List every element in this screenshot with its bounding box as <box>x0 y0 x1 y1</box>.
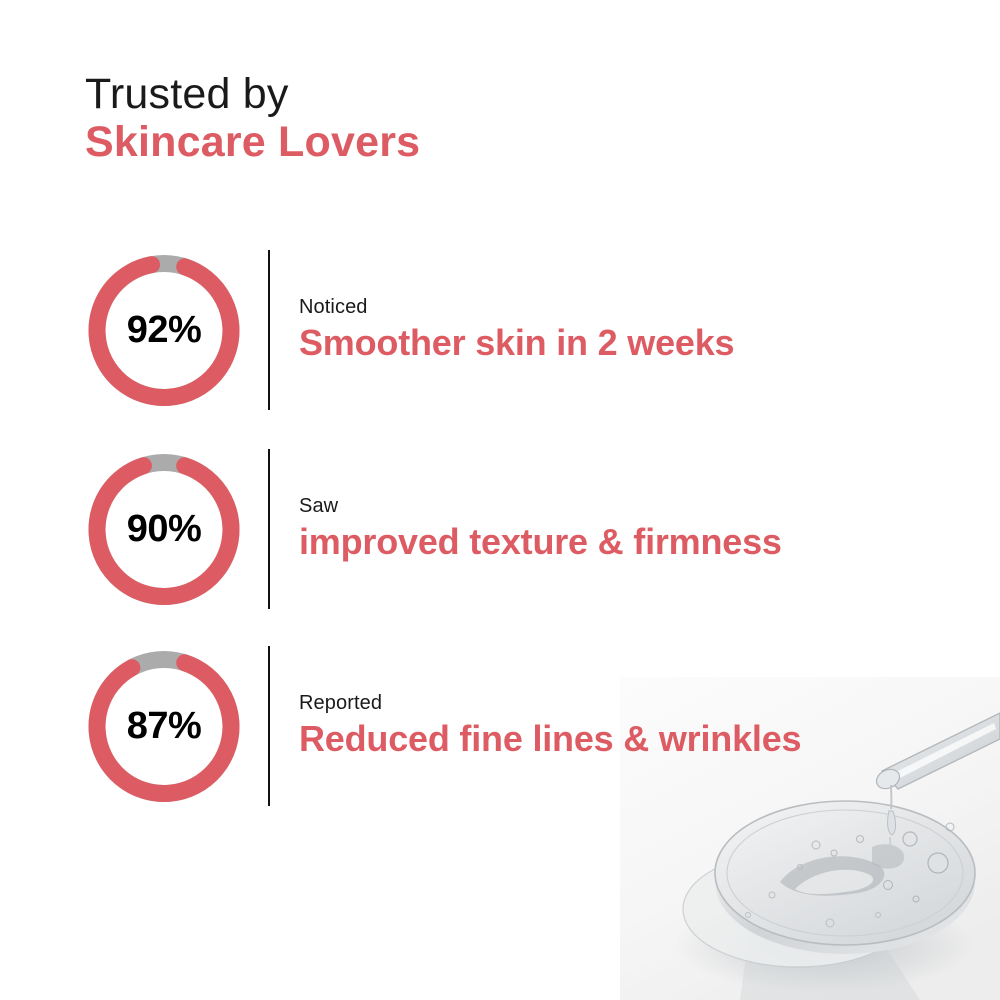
donut-value-1: 90% <box>84 447 244 612</box>
infographic-canvas: Trusted by Skincare Lovers 92% Noticed S… <box>0 0 1000 1000</box>
title-line-accent: Skincare Lovers <box>85 118 785 166</box>
donut-chart-1: 90% <box>84 447 244 612</box>
row-divider <box>268 646 270 806</box>
row-divider <box>268 449 270 609</box>
stat-eyebrow-1: Saw <box>299 494 1000 519</box>
stat-text-0: Noticed Smoother skin in 2 weeks <box>299 295 1000 365</box>
stat-row: 92% Noticed Smoother skin in 2 weeks <box>0 245 1000 415</box>
donut-chart-2: 87% <box>84 644 244 809</box>
donut-value-2: 87% <box>84 644 244 809</box>
donut-chart-0: 92% <box>84 248 244 413</box>
stat-eyebrow-0: Noticed <box>299 295 1000 320</box>
stat-headline-1: improved texture & firmness <box>299 522 1000 562</box>
stat-row: 87% Reported Reduced fine lines & wrinkl… <box>0 641 1000 811</box>
stat-headline-2: Reduced fine lines & wrinkles <box>299 719 1000 759</box>
stat-row: 90% Saw improved texture & firmness <box>0 444 1000 614</box>
title-line-primary: Trusted by <box>85 70 785 118</box>
row-divider <box>268 250 270 410</box>
stat-text-1: Saw improved texture & firmness <box>299 494 1000 564</box>
page-title: Trusted by Skincare Lovers <box>85 70 785 166</box>
donut-value-0: 92% <box>84 248 244 413</box>
stat-headline-0: Smoother skin in 2 weeks <box>299 323 1000 363</box>
stat-eyebrow-2: Reported <box>299 691 1000 716</box>
stat-text-2: Reported Reduced fine lines & wrinkles <box>299 691 1000 761</box>
